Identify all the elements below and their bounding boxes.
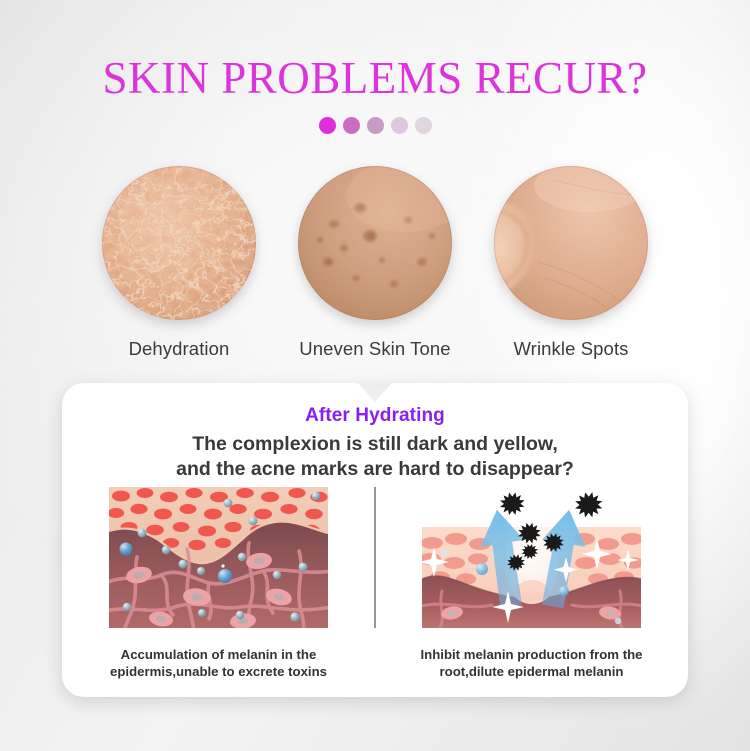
caption-line-1: Accumulation of melanin in the: [84, 647, 354, 664]
dry-skin-photo: [102, 166, 256, 320]
panel-caption-melanin-inhibition: Inhibit melanin production from the root…: [397, 647, 667, 680]
problem-label-uneven-skin-tone: Uneven Skin Tone: [299, 338, 450, 360]
dot-5: [415, 117, 432, 134]
dot-1: [319, 117, 336, 134]
infographic-page: SKIN PROBLEMS RECUR?: [0, 0, 750, 751]
caption-line-1: Inhibit melanin production from the: [397, 647, 667, 664]
card-subtitle: The complexion is still dark and yellow,…: [62, 432, 688, 482]
panel-melanin-accumulation: Accumulation of melanin in the epidermis…: [62, 487, 375, 697]
problem-item-uneven-skin-tone: Uneven Skin Tone: [296, 166, 454, 360]
diagram-panels: Accumulation of melanin in the epidermis…: [62, 487, 688, 697]
problem-item-wrinkle-spots: Wrinkle Spots: [492, 166, 650, 360]
problem-label-dehydration: Dehydration: [129, 338, 230, 360]
skin-problem-circles: Dehydration: [0, 166, 750, 360]
pore-cleansing-diagram: [422, 487, 641, 628]
problem-item-dehydration: Dehydration: [100, 166, 258, 360]
decorative-dot-row: [0, 117, 750, 134]
after-hydrating-card: After Hydrating The complexion is still …: [62, 383, 688, 697]
dot-3: [367, 117, 384, 134]
spotted-skin-photo: [298, 166, 452, 320]
dot-2: [343, 117, 360, 134]
card-notch-triangle-icon: [358, 383, 392, 402]
card-subtitle-line-2: and the acne marks are hard to disappear…: [62, 457, 688, 482]
card-subtitle-line-1: The complexion is still dark and yellow,: [62, 432, 688, 457]
pore-skin-photo: [494, 166, 648, 320]
caption-line-2: root,dilute epidermal melanin: [397, 664, 667, 681]
panel-melanin-inhibition: Inhibit melanin production from the root…: [375, 487, 688, 697]
dot-4: [391, 117, 408, 134]
caption-line-2: epidermis,unable to excrete toxins: [84, 664, 354, 681]
page-title: SKIN PROBLEMS RECUR?: [0, 52, 750, 104]
panel-caption-melanin-accumulation: Accumulation of melanin in the epidermis…: [84, 647, 354, 680]
skin-cross-section-diagram: [109, 487, 328, 628]
card-title: After Hydrating: [62, 405, 688, 427]
problem-label-wrinkle-spots: Wrinkle Spots: [513, 338, 628, 360]
